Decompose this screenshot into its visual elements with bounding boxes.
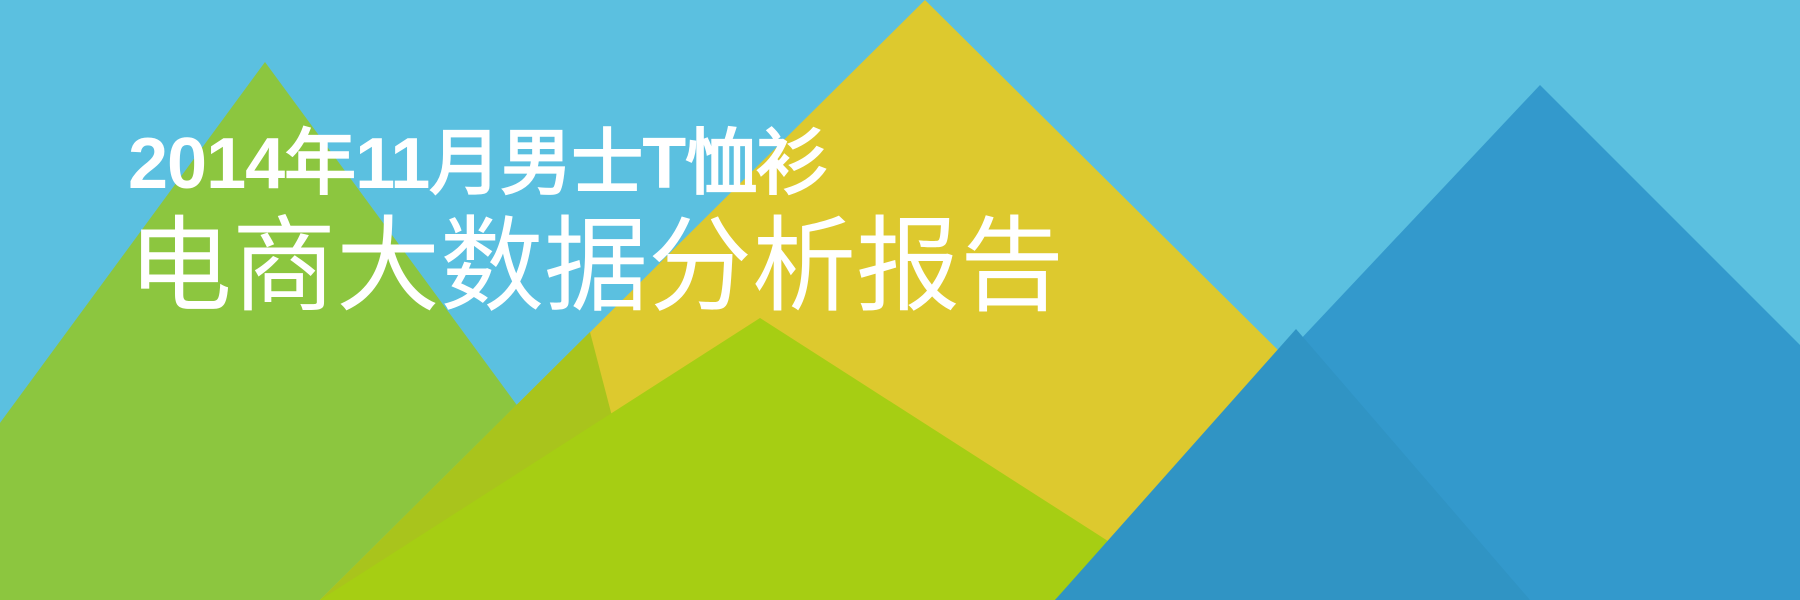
decorative-background: [0, 0, 1800, 600]
title-banner: 2014年11月男士T恤衫 电商大数据分析报告: [0, 0, 1800, 600]
